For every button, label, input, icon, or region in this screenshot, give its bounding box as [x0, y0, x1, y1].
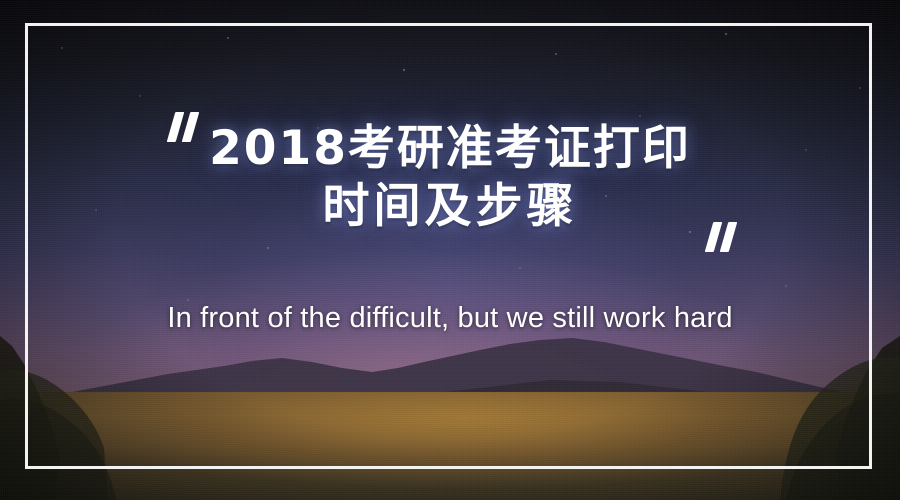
title-line-1: 2018考研准考证打印: [0, 120, 900, 178]
banner-image: 2018考研准考证打印 时间及步骤 In front of the diffic…: [0, 0, 900, 500]
title-line-2: 时间及步骤: [0, 178, 900, 236]
page-title: 2018考研准考证打印 时间及步骤: [0, 120, 900, 236]
quote-close-icon: [706, 222, 752, 256]
banner-content: 2018考研准考证打印 时间及步骤 In front of the diffic…: [0, 0, 900, 500]
subtitle-text: In front of the difficult, but we still …: [0, 302, 900, 335]
